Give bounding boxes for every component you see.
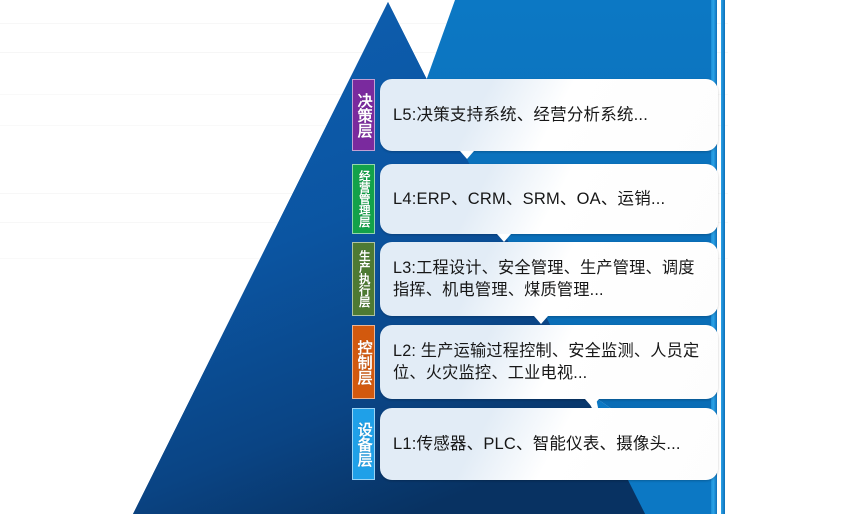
layer-card-L3[interactable]: L3:工程设计、安全管理、生产管理、调度 指挥、机电管理、煤质管理... [380, 242, 718, 316]
layer-notch-L4 [497, 234, 511, 242]
layer-tab-L1[interactable]: 设备层 [352, 408, 375, 480]
right-rail-strip-outer [721, 0, 725, 514]
layer-card-L1[interactable]: L1:传感器、PLC、智能仪表、摄像头... [380, 408, 718, 480]
layer-row-L1[interactable]: 设备层 L1:传感器、PLC、智能仪表、摄像头... [352, 408, 718, 480]
layer-card-text-L4: L4:ERP、CRM、SRM、OA、运销... [393, 188, 665, 211]
layer-card-L5[interactable]: L5:决策支持系统、经营分析系统... [380, 79, 718, 151]
layer-tab-L4[interactable]: 经营管理层 [352, 164, 375, 234]
layer-notch-L3 [534, 316, 548, 324]
layer-card-text-L2-line2: 位、火灾监控、工业电视... [393, 362, 699, 384]
layer-card-L2[interactable]: L2: 生产运输过程控制、安全监测、人员定 位、火灾监控、工业电视... [380, 325, 718, 399]
layer-row-L3[interactable]: 生产执行层 L3:工程设计、安全管理、生产管理、调度 指挥、机电管理、煤质管理.… [352, 242, 718, 316]
layer-card-text-L2-line1: L2: 生产运输过程控制、安全监测、人员定 [393, 340, 699, 362]
layer-card-text-L1: L1:传感器、PLC、智能仪表、摄像头... [393, 433, 681, 456]
layer-card-L4[interactable]: L4:ERP、CRM、SRM、OA、运销... [380, 164, 718, 234]
layer-notch-L2 [585, 399, 599, 407]
layer-row-L4[interactable]: 经营管理层 L4:ERP、CRM、SRM、OA、运销... [352, 164, 718, 234]
layer-tab-L2[interactable]: 控制层 [352, 325, 375, 399]
layer-row-L5[interactable]: 决策层 L5:决策支持系统、经营分析系统... [352, 79, 718, 151]
right-margin-area [728, 0, 856, 514]
layer-card-text-L5: L5:决策支持系统、经营分析系统... [393, 104, 648, 127]
layer-notch-L5 [460, 151, 474, 159]
layer-card-text-block-L3: L3:工程设计、安全管理、生产管理、调度 指挥、机电管理、煤质管理... [393, 257, 695, 302]
diagram-canvas: 决策层 L5:决策支持系统、经营分析系统... 经营管理层 L4:ERP、CRM… [0, 0, 856, 514]
layer-row-L2[interactable]: 控制层 L2: 生产运输过程控制、安全监测、人员定 位、火灾监控、工业电视... [352, 325, 718, 399]
layer-tab-L3[interactable]: 生产执行层 [352, 242, 375, 316]
layer-card-text-L3-line2: 指挥、机电管理、煤质管理... [393, 279, 695, 301]
layer-card-text-L3-line1: L3:工程设计、安全管理、生产管理、调度 [393, 257, 695, 279]
layer-card-text-block-L2: L2: 生产运输过程控制、安全监测、人员定 位、火灾监控、工业电视... [393, 340, 699, 385]
layer-tab-L5[interactable]: 决策层 [352, 79, 375, 151]
